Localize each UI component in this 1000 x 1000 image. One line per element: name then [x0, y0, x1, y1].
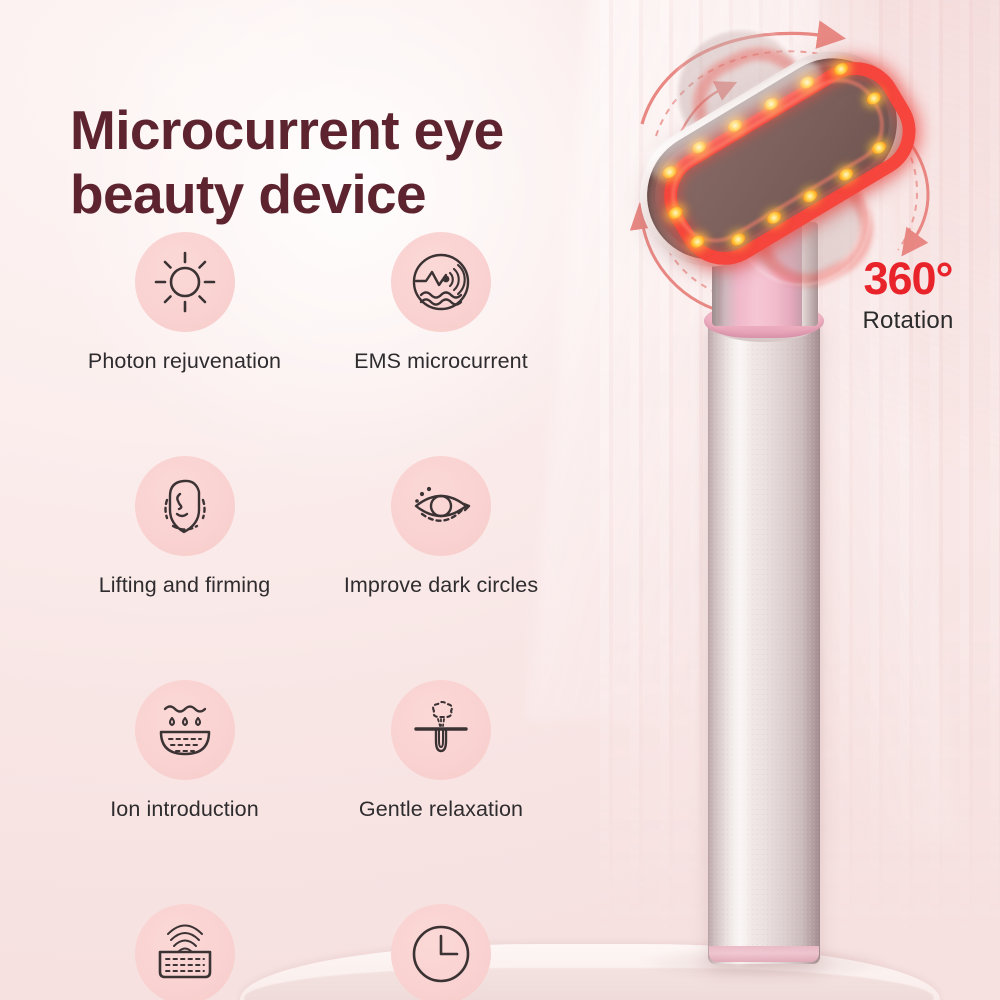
feature-label: Ion introduction [110, 797, 259, 822]
rotation-badge-value: 360° [838, 256, 978, 301]
page-title-line-2: beauty device [70, 163, 630, 227]
handle-texture [708, 314, 820, 964]
skin-layer-waves-icon [152, 924, 218, 984]
clock-icon [410, 923, 472, 985]
feature-item-ion-introduction: Ion introduction [62, 680, 307, 822]
feature-label: Lifting and firming [99, 573, 271, 598]
sun-icon [154, 251, 216, 313]
page-title-line-1: Microcurrent eye [70, 99, 630, 163]
feature-icon-disc [391, 456, 491, 556]
feature-icon-disc [135, 680, 235, 780]
feature-icon-disc [391, 232, 491, 332]
face-profile-icon [153, 474, 217, 538]
handle-highlight [726, 314, 752, 964]
feature-list: Photon rejuvenation [62, 232, 602, 1000]
rotation-badge-label: Rotation [838, 307, 978, 335]
feature-row-spacer [62, 598, 602, 680]
feature-item-lifting-and-firming: Lifting and firming [62, 456, 307, 598]
feature-item-improve-dark-circles: Improve dark circles [307, 456, 575, 598]
feature-row: Photon rejuvenation [62, 232, 602, 374]
feature-label: Photon rejuvenation [88, 349, 281, 374]
page-title: Microcurrent eye beauty device [70, 99, 630, 227]
feature-icon-disc [391, 904, 491, 1000]
feature-row: Lifting and firming [62, 456, 602, 598]
product-marketing-banner: Microcurrent eye beauty device [0, 0, 1000, 1000]
feature-item-gentle-relaxation: Gentle relaxation [307, 680, 575, 822]
feature-row-spacer [62, 374, 602, 456]
feature-icon-disc [135, 456, 235, 556]
feature-row: Ion introduction Gentle relaxation [62, 680, 602, 822]
handle-base [709, 946, 819, 962]
feature-item-photon-rejuvenation: Photon rejuvenation [62, 232, 307, 374]
device-handle [708, 314, 820, 964]
feature-row-spacer [62, 822, 602, 904]
feature-icon-disc [135, 904, 235, 1000]
product-device-image: 360° Rotation [612, 14, 1000, 994]
feature-label: Improve dark circles [344, 573, 538, 598]
feature-item-automatic-timing: Automatic timing [307, 904, 575, 1000]
eye-icon [408, 478, 474, 534]
water-drops-icon [152, 700, 218, 760]
feature-row: Promote metabolism Automatic timing [62, 904, 602, 1000]
feature-item-promote-metabolism: Promote metabolism [62, 904, 307, 1000]
feature-label: Gentle relaxation [359, 797, 523, 822]
hair-follicle-icon [410, 699, 472, 761]
wave-signal-icon [409, 250, 473, 314]
feature-label: EMS microcurrent [354, 349, 528, 374]
rotation-badge: 360° Rotation [838, 256, 978, 335]
feature-item-ems-microcurrent: EMS microcurrent [307, 232, 575, 374]
feature-icon-disc [391, 680, 491, 780]
feature-icon-disc [135, 232, 235, 332]
